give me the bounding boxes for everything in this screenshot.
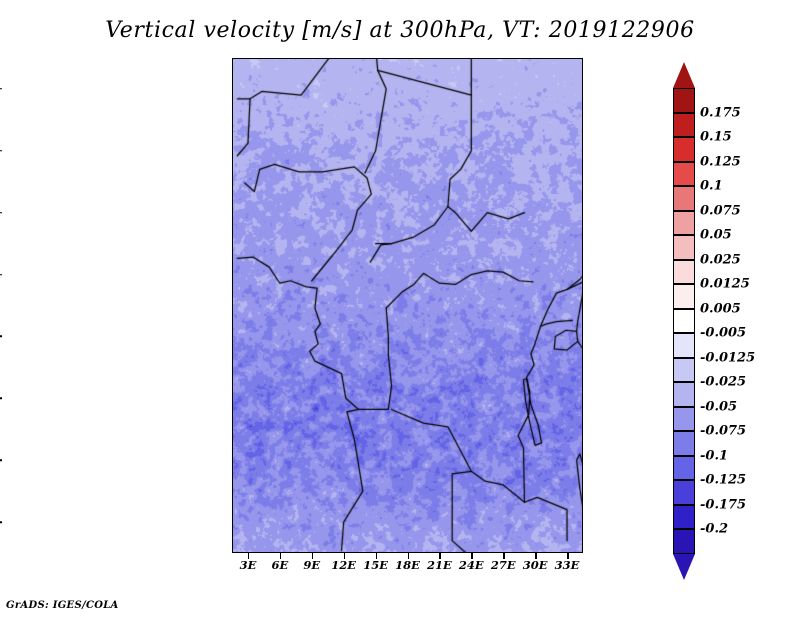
colorbar-label: 0.025 — [700, 252, 741, 267]
colorbar-swatch — [673, 480, 695, 505]
lon-tick-mark — [312, 553, 314, 559]
colorbar-swatch — [673, 88, 695, 113]
lon-tick-mark — [280, 553, 282, 559]
colorbar-label: 0.125 — [700, 154, 741, 169]
lon-tick-mark — [408, 553, 410, 559]
map-plot-area — [232, 58, 583, 553]
colorbar-label: -0.075 — [700, 424, 746, 439]
colorbar-swatch — [673, 333, 695, 358]
colorbar-swatch — [673, 211, 695, 236]
colorbar-label: -0.125 — [700, 473, 746, 488]
colorbar-swatch — [673, 505, 695, 530]
colorbar-label: 0.1 — [700, 179, 723, 194]
colorbar — [673, 62, 695, 552]
colorbar-swatch — [673, 137, 695, 162]
colorbar-swatch — [673, 186, 695, 211]
colorbar-swatch — [673, 382, 695, 407]
lon-tick-mark — [567, 553, 569, 559]
colorbar-swatch — [673, 529, 695, 554]
colorbar-arrow-top — [673, 62, 695, 88]
colorbar-swatch — [673, 407, 695, 432]
colorbar-swatch — [673, 235, 695, 260]
lat-tick-mark — [0, 212, 2, 214]
colorbar-label: -0.175 — [700, 497, 746, 512]
colorbar-label: 0.0125 — [700, 277, 750, 292]
colorbar-label: 0.005 — [700, 301, 741, 316]
colorbar-arrow-bottom — [673, 554, 695, 580]
grads-credit: GrADS: IGES/COLA — [6, 600, 119, 611]
colorbar-label: -0.025 — [700, 375, 746, 390]
lat-tick-mark — [0, 150, 2, 152]
colorbar-label: -0.2 — [700, 522, 728, 537]
colorbar-swatch — [673, 113, 695, 138]
colorbar-swatch — [673, 309, 695, 334]
colorbar-label: 0.175 — [700, 105, 741, 120]
lon-tick-mark — [376, 553, 378, 559]
lat-tick-mark — [0, 521, 2, 523]
lon-tick-mark — [503, 553, 505, 559]
lon-tick-label-33e: 33E — [547, 558, 587, 572]
lon-tick-mark — [471, 553, 473, 559]
colorbar-label: 0.075 — [700, 203, 741, 218]
colorbar-swatch — [673, 260, 695, 285]
colorbar-label: -0.1 — [700, 448, 728, 463]
lon-tick-mark — [344, 553, 346, 559]
lat-tick-mark — [0, 398, 2, 400]
colorbar-swatch — [673, 284, 695, 309]
colorbar-swatch — [673, 162, 695, 187]
colorbar-swatch — [673, 456, 695, 481]
colorbar-label: -0.005 — [700, 326, 746, 341]
lon-tick-mark — [248, 553, 250, 559]
lat-tick-mark — [0, 459, 2, 461]
colorbar-label: 0.15 — [700, 130, 732, 145]
lat-tick-mark — [0, 274, 2, 276]
page-title: Vertical velocity [m/s] at 300hPa, VT: 2… — [0, 18, 800, 43]
lon-tick-mark — [535, 553, 537, 559]
colorbar-swatch — [673, 431, 695, 456]
vertical-velocity-heatmap — [232, 58, 583, 553]
lat-tick-mark — [0, 336, 2, 338]
colorbar-label: -0.0125 — [700, 350, 755, 365]
colorbar-label: 0.05 — [700, 228, 732, 243]
lon-tick-mark — [439, 553, 441, 559]
colorbar-swatch — [673, 358, 695, 383]
colorbar-label: -0.05 — [700, 399, 737, 414]
lat-tick-mark — [0, 88, 2, 90]
